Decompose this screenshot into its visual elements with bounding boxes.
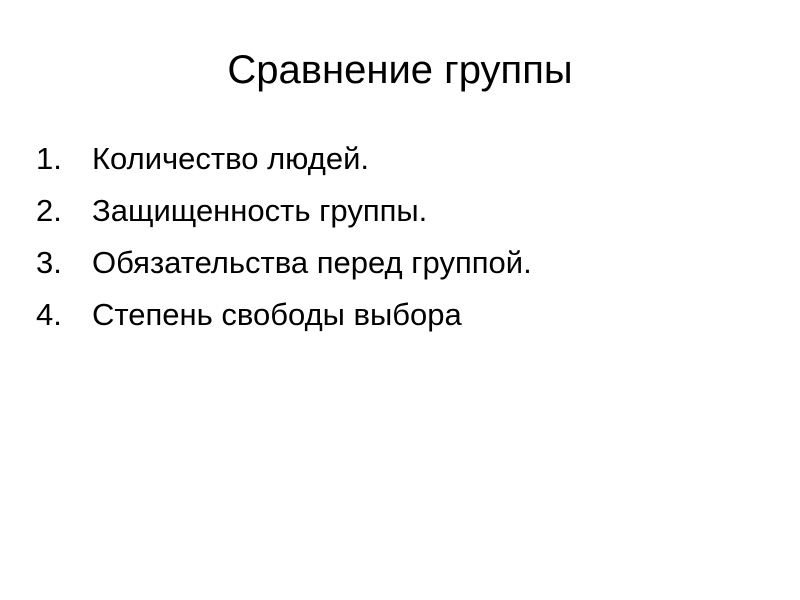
list-item-label: Защищенность группы. (92, 185, 427, 237)
list-item-number: 2. (36, 185, 76, 237)
list-item: 1. Количество людей. (0, 133, 800, 185)
list-item: 2. Защищенность группы. (0, 185, 800, 237)
list-item-number: 1. (36, 133, 76, 185)
list-item-number: 3. (36, 237, 76, 289)
page-title: Сравнение группы (0, 46, 800, 94)
list-item: 3. Обязательства перед группой. (0, 237, 800, 289)
slide-body: 1. Количество людей. 2. Защищенность гру… (0, 133, 800, 341)
list-item-label: Количество людей. (92, 133, 369, 185)
list-item-number: 4. (36, 289, 76, 341)
numbered-list: 1. Количество людей. 2. Защищенность гру… (0, 133, 800, 341)
slide-canvas: Сравнение группы 1. Количество людей. 2.… (0, 0, 800, 600)
list-item: 4. Степень свободы выбора (0, 289, 800, 341)
list-item-label: Обязательства перед группой. (92, 237, 532, 289)
list-item-label: Степень свободы выбора (92, 289, 462, 341)
